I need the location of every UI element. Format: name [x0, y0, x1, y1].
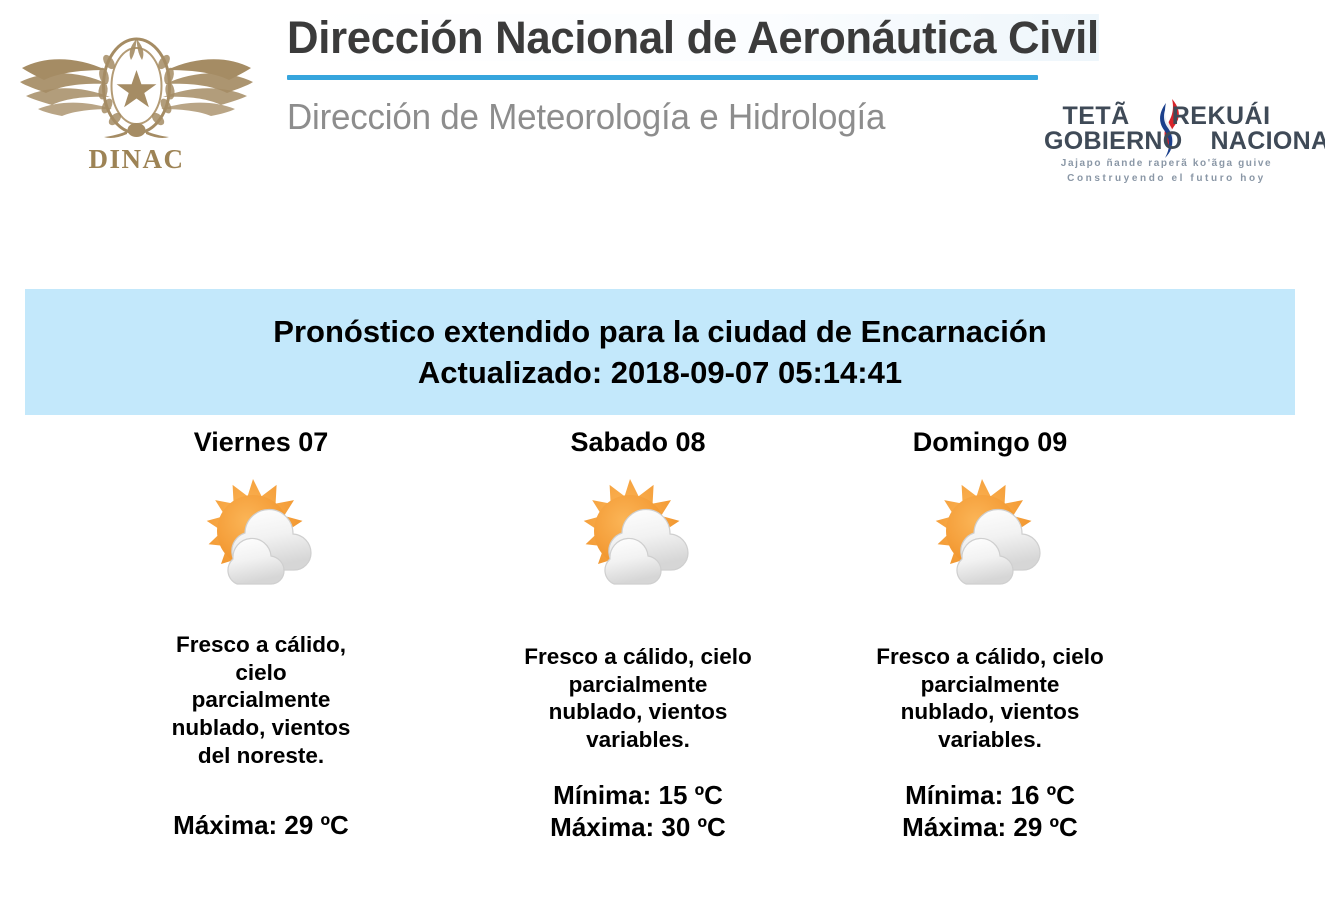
forecast-day-card: Viernes 07 [128, 425, 394, 769]
page-header: DINAC Dirección Nacional de Aeronáutica … [0, 0, 1325, 228]
gov-line2-left: GOBIERNO [1044, 127, 1183, 155]
org-subtitle: Dirección de Meteorología e Hidrología [287, 96, 1024, 138]
weather-icon-wrap [128, 465, 394, 615]
day-description: Fresco a cálido, cielo parcialmente nubl… [520, 643, 756, 754]
gov-logo-line2: GOBIERNONACIONAL [1044, 129, 1289, 154]
forecast-columns: Viernes 07 [0, 425, 1325, 865]
dinac-logo: DINAC [14, 26, 259, 186]
gov-line1-left: TETÃ [1062, 102, 1129, 130]
temp-min: Mínima: 15 ºC [478, 780, 798, 812]
gov-logo-line1: TETÃREKUÁI [1044, 104, 1289, 129]
day-temperatures: Mínima: 15 ºC Máxima: 30 ºC [478, 780, 798, 843]
title-divider-rule [287, 75, 1038, 80]
government-logo: TETÃREKUÁI GOBIERNONACIONAL Jajapo ñande… [1044, 98, 1289, 202]
day-description: Fresco a cálido, cielo parcialmente nubl… [872, 643, 1108, 754]
day-description: Fresco a cálido, cielo parcialmente nubl… [166, 631, 356, 769]
temp-min: Mínima: 16 ºC [830, 780, 1150, 812]
sun-behind-cloud-icon [912, 473, 1068, 611]
forecast-banner: Pronóstico extendido para la ciudad de E… [25, 289, 1295, 415]
gov-line1-right: REKUÁI [1172, 102, 1271, 130]
winged-wreath-star-emblem-icon [14, 26, 259, 146]
gov-line2-right: NACIONAL [1211, 127, 1325, 155]
temp-max: Máxima: 29 ºC [128, 810, 394, 842]
day-name: Sabado 08 [478, 425, 798, 465]
dinac-wordmark: DINAC [14, 144, 259, 175]
day-temperatures: Máxima: 29 ºC [128, 810, 394, 842]
footer-text [0, 912, 1325, 921]
gov-tagline-spanish: Construyendo el futuro hoy [1044, 173, 1289, 184]
clipped-footer [0, 912, 1325, 921]
day-name: Domingo 09 [830, 425, 1150, 465]
temp-max: Máxima: 29 ºC [830, 812, 1150, 844]
banner-updated: Actualizado: 2018-09-07 05:14:41 [418, 352, 902, 393]
forecast-day-card: Sabado 08 Fresco a cálido, cielo parcial… [478, 425, 798, 754]
org-title: Dirección Nacional de Aeronáutica Civil [287, 14, 1099, 61]
sun-behind-cloud-icon [560, 473, 716, 611]
banner-title: Pronóstico extendido para la ciudad de E… [273, 311, 1046, 352]
weather-icon-wrap [830, 465, 1150, 615]
day-temperatures: Mínima: 16 ºC Máxima: 29 ºC [830, 780, 1150, 843]
org-title-block: Dirección Nacional de Aeronáutica Civil … [287, 14, 1047, 138]
forecast-day-card: Domingo 09 Fresco a cálido, cielo parcia… [830, 425, 1150, 754]
gov-tagline-guarani: Jajapo ñande raperã ko'ãga guive [1044, 158, 1289, 169]
day-name: Viernes 07 [128, 425, 394, 465]
sun-behind-cloud-icon [183, 473, 339, 611]
weather-icon-wrap [478, 465, 798, 615]
temp-max: Máxima: 30 ºC [478, 812, 798, 844]
